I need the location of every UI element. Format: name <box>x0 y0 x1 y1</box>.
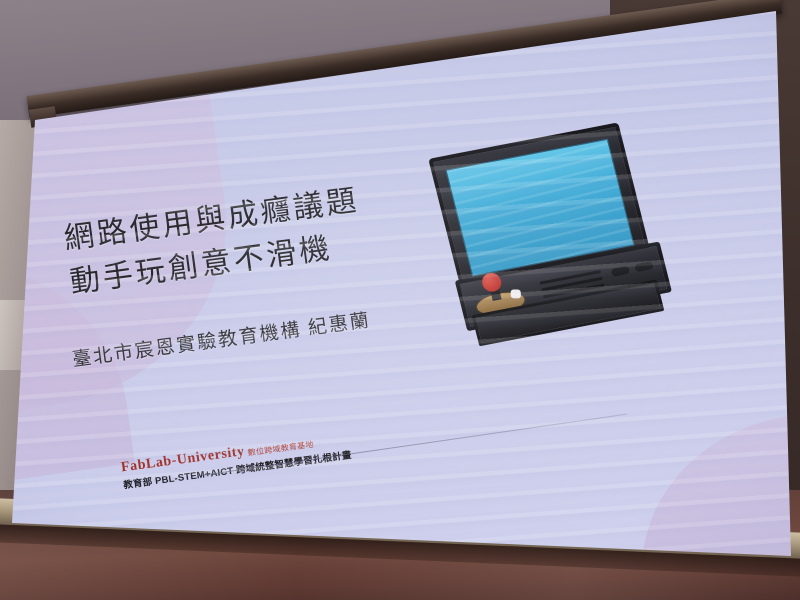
projection-room-scene: 網路使用與成癮議題 動手玩創意不滑機 臺北市宸恩實驗教育機構 紀惠蘭 FabLa… <box>0 0 800 600</box>
